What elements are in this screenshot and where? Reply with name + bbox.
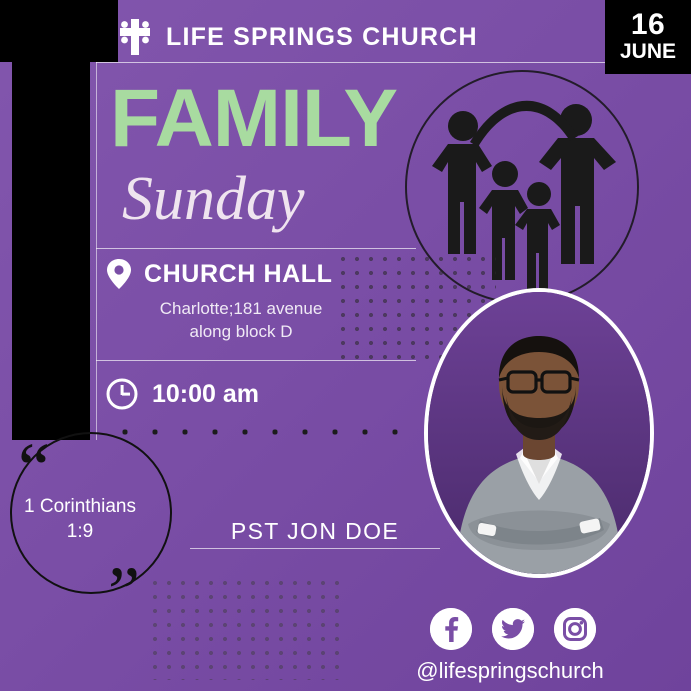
speaker-name: PST JON DOE [200, 518, 430, 545]
speaker-photo [424, 288, 654, 578]
church-name: LIFE SPRINGS CHURCH [166, 23, 478, 52]
dot-divider [110, 427, 410, 437]
facebook-icon[interactable] [430, 608, 472, 650]
divider-vertical [96, 62, 97, 440]
clock-icon [106, 378, 138, 410]
title-family: FAMILY [110, 78, 397, 160]
divider-middle [96, 248, 416, 249]
divider-top [96, 62, 641, 63]
black-band-top-left [0, 0, 102, 62]
date-badge: 16 JUNE [605, 0, 691, 74]
instagram-icon[interactable] [554, 608, 596, 650]
title-sunday: Sunday [122, 168, 305, 230]
dot-pattern-bottom [148, 576, 348, 680]
quote-close-mark: ” [108, 556, 140, 628]
verse-line-1: 1 Corinthians [0, 495, 160, 520]
verse-reference: 1 Corinthians 1:9 [0, 495, 160, 544]
location-title: CHURCH HALL [144, 260, 333, 289]
time-row: 10:00 am [106, 378, 259, 410]
twitter-icon[interactable] [492, 608, 534, 650]
divider-speaker [190, 548, 440, 549]
map-pin-icon [106, 258, 132, 290]
event-poster: 16 JUNE LIFE SPRINGS CHURCH FAMILY Sunda… [0, 0, 691, 691]
address-block: Charlotte;181 avenue along block D [116, 298, 366, 344]
date-day: 16 [631, 10, 665, 40]
black-column-left [12, 62, 90, 440]
black-strip-top [90, 0, 118, 62]
address-line-1: Charlotte;181 avenue [116, 298, 366, 321]
social-icons [430, 608, 596, 650]
time-text: 10:00 am [152, 380, 259, 409]
date-month: JUNE [620, 40, 676, 64]
social-handle: @lifespringschurch [360, 658, 660, 684]
poster-header: LIFE SPRINGS CHURCH [118, 14, 478, 60]
cross-icon [118, 18, 152, 56]
verse-line-2: 1:9 [0, 520, 160, 545]
address-line-2: along block D [116, 321, 366, 344]
quote-open-mark: “ [18, 432, 50, 504]
location-row: CHURCH HALL [106, 258, 333, 290]
